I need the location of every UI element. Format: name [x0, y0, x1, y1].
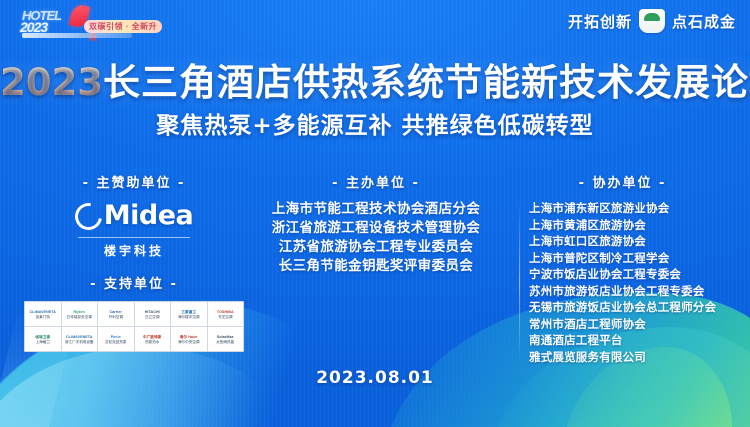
title-rest: 长三角酒店供热系统节能新技术发展论坛 — [103, 61, 750, 104]
supporter-logo-name: 海尔 Haier — [180, 335, 198, 339]
event-logo-left: HOTEL 2023 双碳引领 · 全新升级 — [16, 7, 176, 41]
support-heading: - 支持单位 - — [18, 273, 250, 292]
midea-logo: Midea — [75, 200, 193, 231]
supporter-logo-tile: Carrier开利空调 — [98, 302, 134, 326]
supporter-logo-name: CLIMAVENETA — [66, 335, 93, 339]
supporter-logo-subtitle: 芬尼克兹热泵 — [105, 340, 127, 344]
organizer-item: 上海市节能工程技术协会酒店分会 — [252, 200, 500, 219]
supporter-logo-subtitle: 热泵热水 — [145, 340, 159, 344]
supporter-logo-tile: 中广欧特斯热泵热水 — [135, 327, 171, 351]
supporter-logo-name: HITACHI — [145, 310, 160, 314]
supporter-logo-tile: CLIMAVENETA浙江广天机电设备 — [62, 327, 98, 351]
co-organizer-item: 南通酒店工程平台 — [529, 332, 740, 349]
co-organizer-item: 上海市浦东新区旅游业协会 — [529, 200, 740, 217]
supporter-logo-name: 中广欧特斯 — [143, 335, 161, 339]
brand-mark-icon — [639, 9, 665, 33]
organizer-item: 长三角节能金钥匙奖评审委员会 — [252, 257, 500, 276]
supporter-logo-subtitle: 浙江广天机电设备 — [65, 340, 94, 344]
supporter-logo-subtitle: 日本瑞克安空调 — [67, 315, 92, 319]
midea-subbrand: 楼宇科技 — [18, 242, 250, 259]
supporter-logo-grid: CLIMAVENETA克莱门特Rijken日本瑞克安空调Carrier开利空调H… — [24, 301, 244, 352]
title-year: 2023 — [0, 61, 103, 104]
midea-block: Midea 楼宇科技 — [18, 200, 250, 259]
sponsor-slogan-right: 开拓创新 点石成金 — [568, 8, 736, 34]
organizer-item: 江苏省旅游协会工程专业委员会 — [252, 238, 500, 257]
column-organizer: - 主办单位 - 上海市节能工程技术协会酒店分会浙江省旅游工程设备技术管理协会江… — [252, 172, 500, 276]
midea-ring-icon — [69, 198, 107, 236]
supporter-logo-name: CLIMAVENETA — [29, 310, 56, 314]
supporter-logo-subtitle: 海尔中央空调 — [178, 340, 200, 344]
event-date: 2023.08.01 — [0, 368, 750, 388]
supporter-logo-tile: 海尔 Haier海尔中央空调 — [171, 327, 207, 351]
supporter-logo-subtitle: 日立空调 — [145, 315, 159, 319]
co-organizer-item: 无锡市旅游饭店业协会总工程师分会 — [529, 299, 740, 316]
co-organizer-item: 苏州市旅游饭店业协会工程专委会 — [529, 283, 740, 300]
supporter-logo-name: Carrier — [110, 310, 123, 314]
event-logo-badge-label: 双碳引领 · 全新升级 — [89, 21, 162, 43]
column-sponsor: - 主赞助单位 - Midea 楼宇科技 - 支持单位 - CLIMAVENET… — [18, 172, 250, 352]
event-logo-badge: 双碳引领 · 全新升级 — [84, 20, 162, 33]
supporter-logo-tile: SolarMax太阳雨热能 — [208, 327, 244, 351]
supporter-logo-subtitle: 上海格兰 — [36, 340, 50, 344]
organizer-heading: - 主办单位 - — [252, 172, 500, 191]
co-organizer-heading: - 协办单位 - — [519, 172, 740, 191]
supporter-logo-name: SolarMax — [217, 335, 234, 339]
sponsor-heading: - 主赞助单位 - — [18, 172, 250, 191]
event-logo-underbar — [22, 33, 132, 38]
co-organizer-item: 上海市黄浦区旅游协会 — [529, 217, 740, 234]
supporter-logo-tile: HITACHI日立空调 — [135, 302, 171, 326]
columns-container: - 主赞助单位 - Midea 楼宇科技 - 支持单位 - CLIMAVENET… — [0, 172, 750, 387]
page-title: 2023长三角酒店供热系统节能新技术发展论坛 — [0, 52, 750, 106]
supporter-logo-subtitle: 克莱门特 — [36, 315, 50, 319]
co-organizer-item: 宁波市饭店业协会工程专委会 — [529, 266, 740, 283]
supporter-logo-name: 格瑞卫康 — [35, 335, 50, 339]
supporter-logo-name: TOSHIBA — [217, 310, 234, 314]
co-organizer-item: 常州市酒店工程师协会 — [529, 316, 740, 333]
supporter-logo-tile: 格瑞卫康上海格兰 — [25, 327, 61, 351]
midea-wordmark: Midea — [104, 200, 193, 231]
supporter-logo-tile: Rijken日本瑞克安空调 — [62, 302, 98, 326]
supporter-logo-tile: 三菱重工海尔楼宇空调 — [171, 302, 207, 326]
supporter-logo-tile: TOSHIBA东芝空调 — [208, 302, 244, 326]
supporter-logo-name: Phnix — [111, 335, 121, 339]
sponsor-slogan-right-text: 点石成金 — [672, 11, 736, 32]
supporter-logo-tile: Phnix芬尼克兹热泵 — [98, 327, 134, 351]
supporter-logo-subtitle: 海尔楼宇空调 — [178, 315, 200, 319]
supporter-logo-subtitle: 开利空调 — [109, 315, 123, 319]
co-organizer-item: 雅式展览服务有限公司 — [529, 349, 740, 366]
organizer-item: 浙江省旅游工程设备技术管理协会 — [252, 219, 500, 238]
co-organizer-wrap: 上海市浦东新区旅游业协会上海市黄浦区旅游协会上海市虹口区旅游协会上海市普陀区制冷… — [519, 200, 740, 365]
supporter-logo-name: Rijken — [74, 310, 85, 314]
co-organizer-item: 上海市普陀区制冷工程学会 — [529, 250, 740, 267]
midea-divider — [78, 237, 190, 238]
conference-poster: HOTEL 2023 双碳引领 · 全新升级 开拓创新 点石成金 2023长三角… — [0, 0, 750, 427]
supporter-logo-subtitle: 东芝空调 — [218, 315, 232, 319]
column-co-organizer: - 协办单位 - 上海市浦东新区旅游业协会上海市黄浦区旅游协会上海市虹口区旅游协… — [505, 172, 740, 365]
co-organizer-item: 上海市虹口区旅游协会 — [529, 233, 740, 250]
sponsor-slogan-left-text: 开拓创新 — [568, 11, 632, 32]
supporter-logo-subtitle: 太阳雨热能 — [216, 340, 234, 344]
organizer-list: 上海市节能工程技术协会酒店分会浙江省旅游工程设备技术管理协会江苏省旅游协会工程专… — [252, 200, 500, 276]
supporter-logo-tile: CLIMAVENETA克莱门特 — [25, 302, 61, 326]
page-subtitle: 聚焦热泵+多能源互补 共推绿色低碳转型 — [0, 106, 750, 140]
co-organizer-list: 上海市浦东新区旅游业协会上海市黄浦区旅游协会上海市虹口区旅游协会上海市普陀区制冷… — [529, 200, 740, 365]
supporter-logo-name: 三菱重工 — [181, 310, 196, 314]
